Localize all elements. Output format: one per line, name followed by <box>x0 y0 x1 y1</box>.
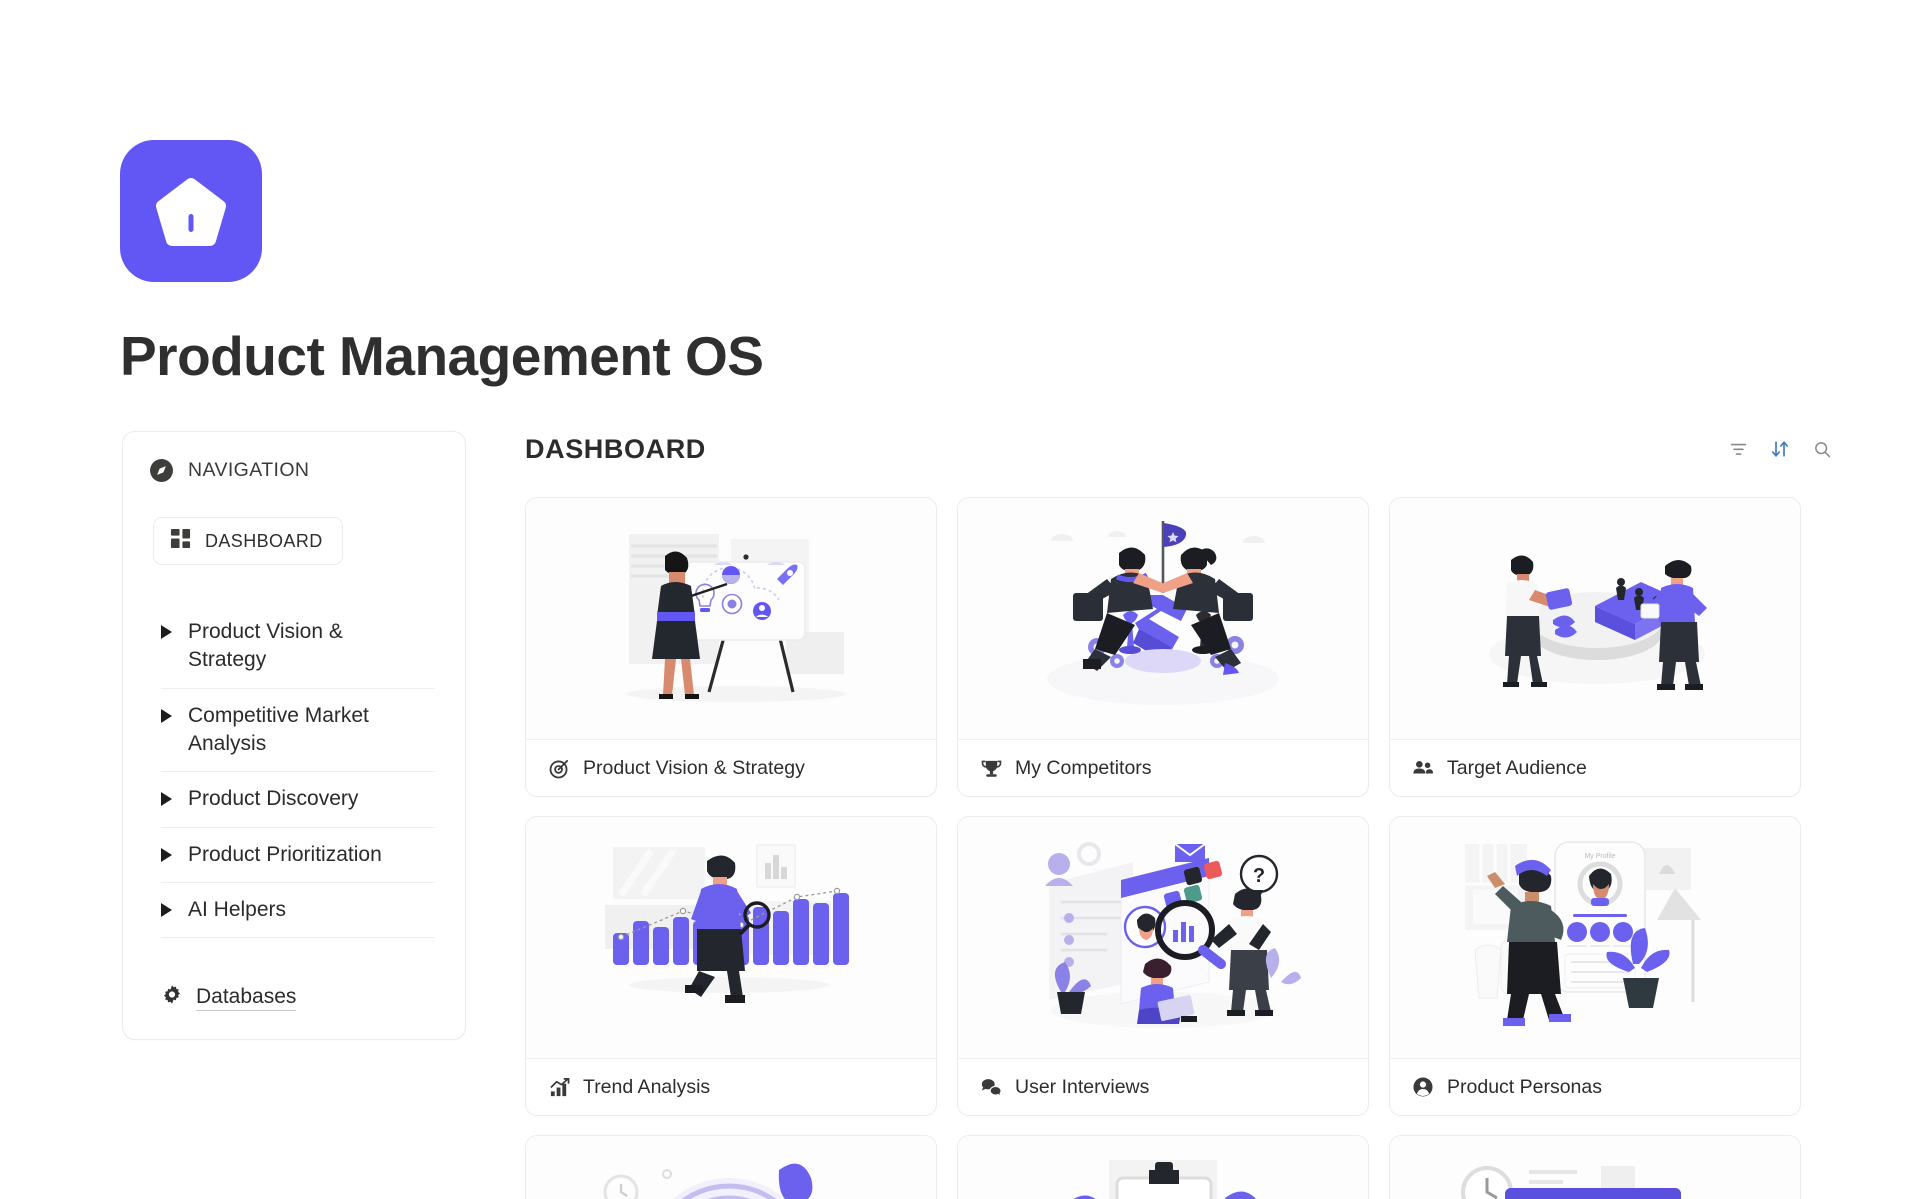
sidebar-item-label: Competitive Market Analysis <box>188 702 398 759</box>
card-illustration-woman-with-phone-profile: My Profile <box>1390 817 1800 1059</box>
dashboard-card-row3-1[interactable]: ? <box>525 1135 937 1199</box>
sidebar-item-product-discovery[interactable]: Product Discovery <box>161 772 435 827</box>
card-footer: Product Personas <box>1390 1059 1800 1115</box>
caret-right-icon <box>161 792 172 806</box>
card-illustration-people-reviewing-profiles: ? <box>958 817 1368 1059</box>
main-title: DASHBOARD <box>525 434 706 465</box>
sidebar-item-product-vision-strategy[interactable]: Product Vision & Strategy <box>161 605 435 689</box>
sidebar-databases-label: Databases <box>196 985 296 1011</box>
caret-right-icon <box>161 709 172 723</box>
caret-right-icon <box>161 625 172 639</box>
home-pentagon-icon <box>150 170 232 252</box>
card-label: Product Vision & Strategy <box>583 757 805 780</box>
card-footer: Target Audience <box>1390 740 1800 796</box>
sidebar-nav-title: NAVIGATION <box>188 459 309 482</box>
card-footer: My Competitors <box>958 740 1368 796</box>
gear-icon <box>161 984 183 1011</box>
main-header: DASHBOARD <box>525 428 1845 470</box>
search-icon[interactable] <box>1811 438 1833 460</box>
main-content: DASHBOARD <box>525 428 1845 1199</box>
main-toolbar <box>1727 438 1833 460</box>
card-illustration-woman-presenting-whiteboard <box>526 498 936 740</box>
caret-right-icon <box>161 903 172 917</box>
sidebar-item-label: Product Prioritization <box>188 841 382 869</box>
dashboard-card-row3-3[interactable] <box>1389 1135 1801 1199</box>
sidebar-item-label: Product Discovery <box>188 785 358 813</box>
chart-trend-icon <box>548 1076 570 1098</box>
sidebar-item-product-prioritization[interactable]: Product Prioritization <box>161 828 435 883</box>
dashboard-card-product-vision-strategy[interactable]: Product Vision & Strategy <box>525 497 937 797</box>
card-footer: User Interviews <box>958 1059 1368 1115</box>
card-illustration-people-with-kanban-board <box>1390 1136 1800 1199</box>
svg-text:?: ? <box>1253 865 1265 887</box>
dashboard-card-product-personas[interactable]: My Profile <box>1389 816 1801 1116</box>
sidebar-item-label: Product Vision & Strategy <box>188 618 398 675</box>
sidebar-nav-header: NAVIGATION <box>123 458 465 483</box>
app-page: Product Management OS NAVIGATION <box>0 0 1920 1199</box>
sidebar: NAVIGATION DASHBOARD Product Vision & St… <box>122 431 466 1040</box>
sidebar-dashboard-label: DASHBOARD <box>205 531 323 552</box>
sidebar-item-databases[interactable]: Databases <box>161 984 465 1011</box>
compass-icon <box>149 458 174 483</box>
sidebar-item-ai-helpers[interactable]: AI Helpers <box>161 883 435 938</box>
card-label: Product Personas <box>1447 1076 1602 1099</box>
account-circle-icon <box>1412 1076 1434 1098</box>
dashboard-card-user-interviews[interactable]: ? <box>957 816 1369 1116</box>
sidebar-item-competitive-market-analysis[interactable]: Competitive Market Analysis <box>161 689 435 773</box>
card-illustration-woman-in-maze-with-idea-bulb: ? <box>526 1136 936 1199</box>
sidebar-item-label: AI Helpers <box>188 896 286 924</box>
people-group-icon <box>1412 757 1434 779</box>
card-illustration-pie-chart-with-people <box>1390 498 1800 740</box>
card-footer: Product Vision & Strategy <box>526 740 936 796</box>
page-header: Product Management OS <box>120 140 1020 386</box>
dashboard-card-my-competitors[interactable]: My Competitors <box>957 497 1369 797</box>
filter-icon[interactable] <box>1727 438 1749 460</box>
dashboard-card-trend-analysis[interactable]: Trend Analysis <box>525 816 937 1116</box>
card-label: Trend Analysis <box>583 1076 710 1099</box>
card-label: Target Audience <box>1447 757 1587 780</box>
grid-icon <box>170 528 191 554</box>
card-illustration-man-with-magnifier-bar-chart <box>526 817 936 1059</box>
dashboard-card-target-audience[interactable]: Target Audience <box>1389 497 1801 797</box>
app-logo <box>120 140 262 282</box>
sidebar-nav-list: Product Vision & Strategy Competitive Ma… <box>123 605 465 938</box>
trophy-icon <box>980 757 1002 779</box>
page-title: Product Management OS <box>120 328 1020 386</box>
target-icon <box>548 757 570 779</box>
sidebar-item-dashboard[interactable]: DASHBOARD <box>153 517 343 565</box>
dashboard-card-row3-2[interactable] <box>957 1135 1369 1199</box>
chat-bubbles-icon <box>980 1076 1002 1098</box>
card-illustration-two-people-racing-to-flag <box>958 498 1368 740</box>
card-label: My Competitors <box>1015 757 1152 780</box>
sort-icon[interactable] <box>1769 438 1791 460</box>
caret-right-icon <box>161 848 172 862</box>
card-footer: Trend Analysis <box>526 1059 936 1115</box>
card-illustration-two-people-with-checklist <box>958 1136 1368 1199</box>
dashboard-card-grid: Product Vision & Strategy <box>525 497 1845 1199</box>
card-label: User Interviews <box>1015 1076 1149 1099</box>
svg-text:My Profile: My Profile <box>1584 853 1615 860</box>
